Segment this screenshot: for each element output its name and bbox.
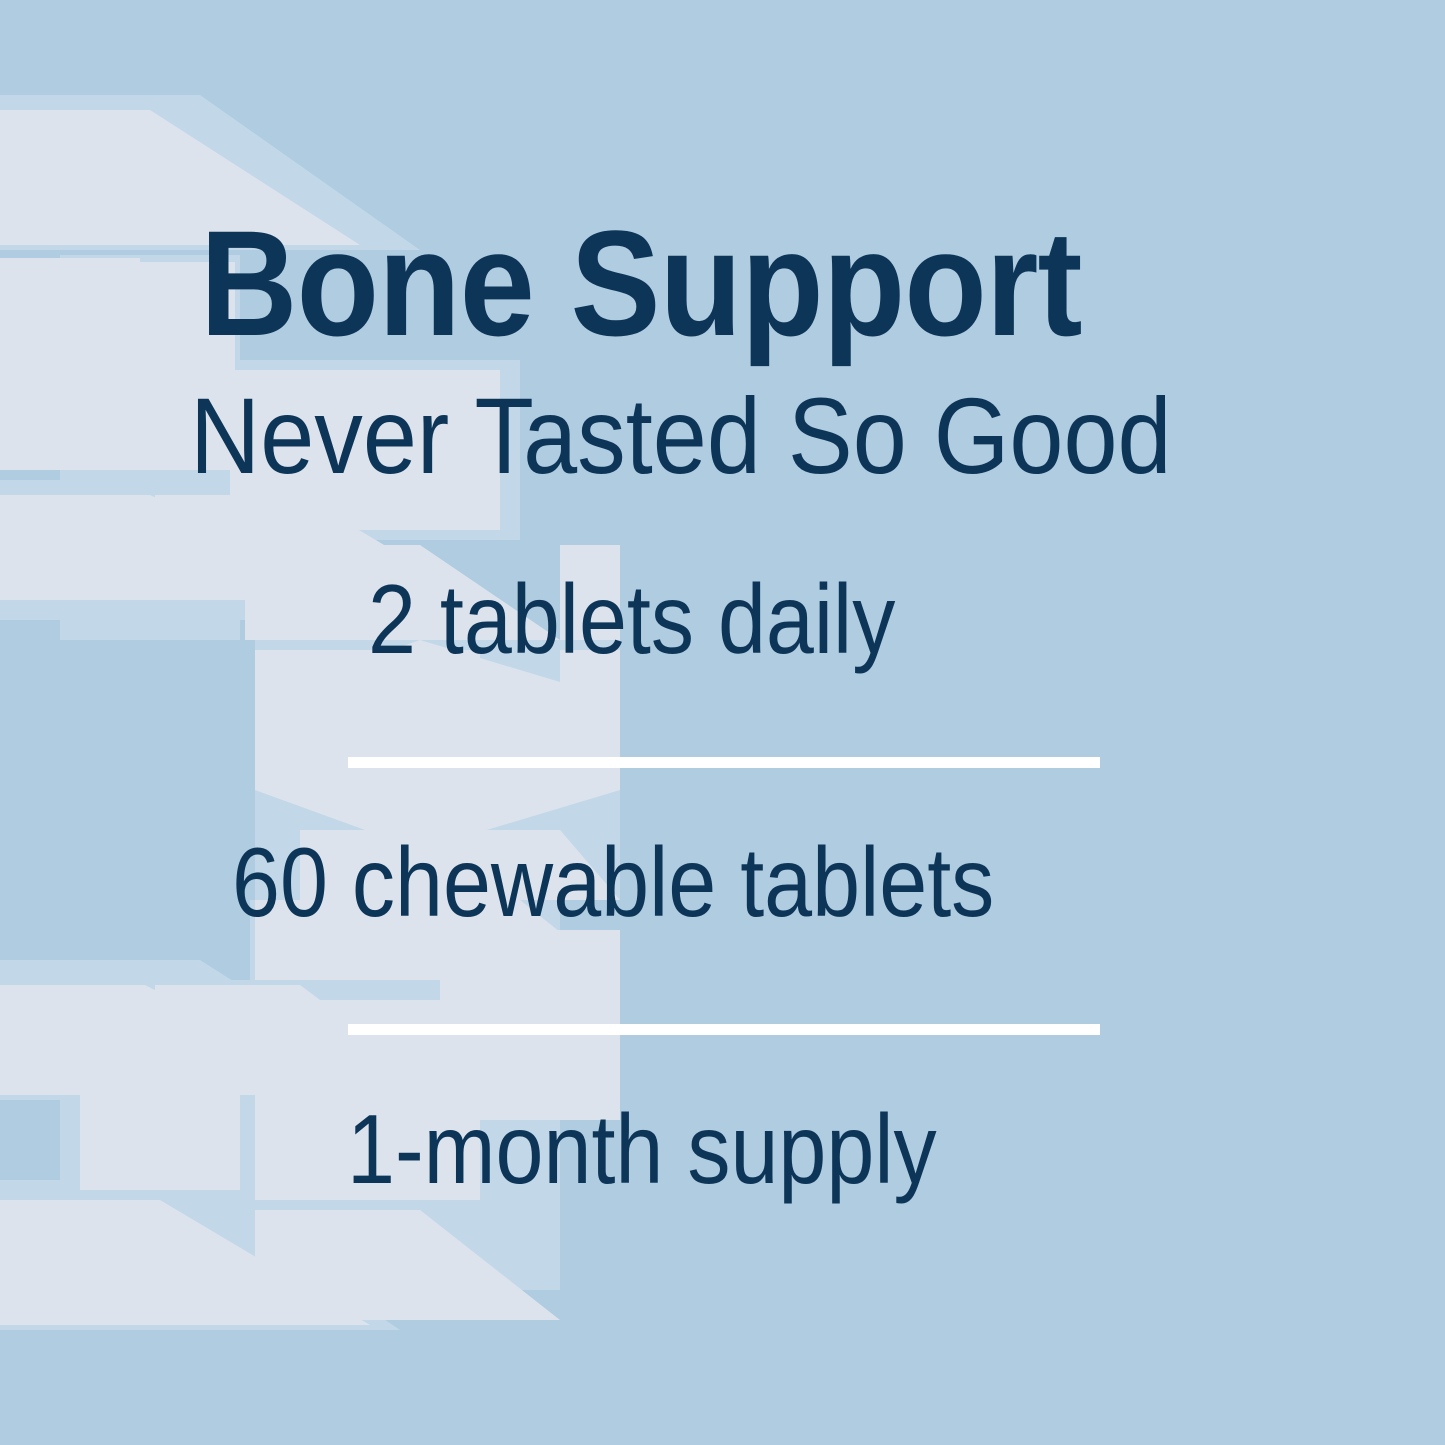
fact-count: 60 chewable tablets: [232, 833, 994, 931]
text-content: Bone Support Never Tasted So Good 2 tabl…: [0, 0, 1445, 1445]
page-title: Bone Support: [200, 208, 1082, 358]
subtitle: Never Tasted So Good: [190, 382, 1172, 490]
product-feature-card: Bone Support Never Tasted So Good 2 tabl…: [0, 0, 1445, 1445]
fact-supply: 1-month supply: [347, 1100, 937, 1198]
divider-rule-2: [348, 1024, 1100, 1035]
fact-dosage: 2 tablets daily: [368, 570, 895, 668]
divider-rule-1: [348, 757, 1100, 768]
